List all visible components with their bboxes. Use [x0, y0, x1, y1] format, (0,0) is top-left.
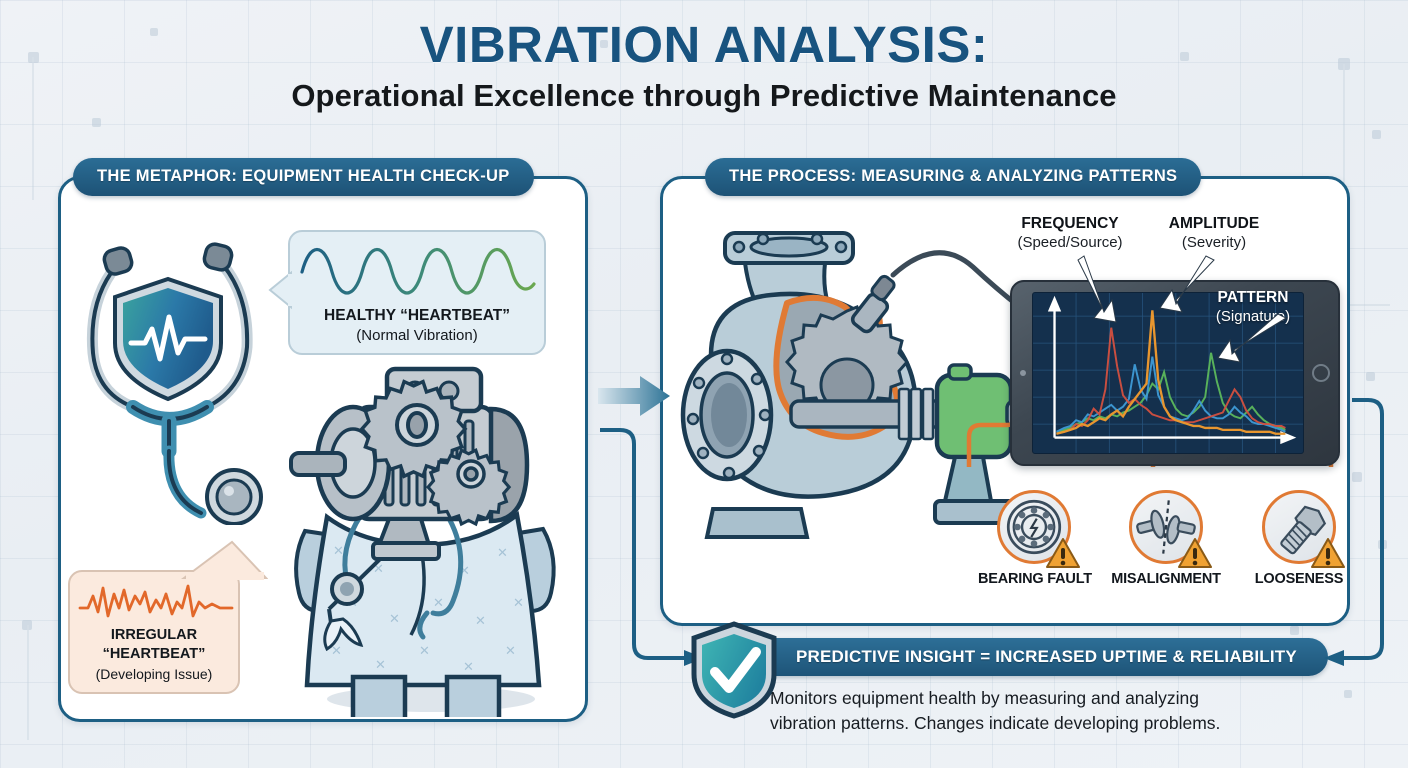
warning-triangle-icon: [1178, 537, 1212, 569]
callout-irregular-title-line1: IRREGULAR: [111, 627, 197, 643]
fault-misalignment[interactable]: MISALIGNMENT: [1110, 490, 1222, 587]
callout-irregular-title: IRREGULAR “HEARTBEAT”: [70, 626, 238, 664]
callout-irregular-tail: [180, 540, 268, 580]
fault-looseness-circle: [1262, 490, 1336, 564]
fault-bearing-label: BEARING FAULT: [978, 571, 1090, 587]
page-title: VIBRATION ANALYSIS:: [0, 18, 1408, 72]
fault-bearing-fault[interactable]: BEARING FAULT: [978, 490, 1090, 587]
annotation-arrows: [1020, 250, 1340, 380]
svg-text:✕: ✕: [375, 657, 386, 672]
svg-text:✕: ✕: [475, 613, 486, 628]
shield-check-icon: [688, 620, 780, 720]
fault-misalignment-circle: [1129, 490, 1203, 564]
callout-irregular-heartbeat: IRREGULAR “HEARTBEAT” (Developing Issue): [68, 570, 240, 694]
svg-text:✕: ✕: [505, 643, 516, 658]
vibration-sensor-icon: [850, 253, 1025, 334]
callout-healthy-subtitle: (Normal Vibration): [290, 327, 544, 344]
svg-text:✕: ✕: [433, 595, 444, 610]
svg-text:✕: ✕: [497, 545, 508, 560]
svg-text:✕: ✕: [333, 543, 344, 558]
fault-looseness-label: LOOSENESS: [1243, 571, 1355, 587]
healthy-waveform: [298, 240, 538, 302]
svg-text:✕: ✕: [389, 611, 400, 626]
fault-looseness[interactable]: LOOSENESS: [1243, 490, 1355, 587]
irregular-waveform: [78, 582, 234, 624]
callout-healthy-tail: [268, 270, 292, 310]
annotation-frequency: FREQUENCY (Speed/Source): [1000, 214, 1140, 252]
gear-icon-small: [428, 450, 509, 524]
electric-motor-patient-icon: ✕ ✕ ✕ ✕ ✕ ✕ ✕ ✕ ✕ ✕ ✕ ✕ ✕ ✕ ✕: [269, 359, 589, 717]
svg-text:✕: ✕: [419, 643, 430, 658]
page-subtitle: Operational Excellence through Predictiv…: [0, 78, 1408, 114]
header: VIBRATION ANALYSIS: Operational Excellen…: [0, 18, 1408, 114]
annotation-amplitude-title: AMPLITUDE: [1152, 214, 1276, 233]
sensor-cable: [893, 253, 1025, 311]
shield-heartbeat-icon: [115, 279, 221, 399]
annotation-amplitude: AMPLITUDE (Severity): [1152, 214, 1276, 252]
panel-metaphor-header: THE METAPHOR: EQUIPMENT HEALTH CHECK-UP: [73, 158, 534, 196]
warning-triangle-icon: [1311, 537, 1345, 569]
warning-triangle-icon: [1046, 537, 1080, 569]
right-arrow-icon: [596, 372, 674, 420]
svg-text:✕: ✕: [513, 595, 524, 610]
stethoscope-chestpiece: [207, 470, 261, 524]
fault-bearing-circle: [997, 490, 1071, 564]
panel-process-header: THE PROCESS: MEASURING & ANALYZING PATTE…: [705, 158, 1201, 196]
annotation-frequency-title: FREQUENCY: [1000, 214, 1140, 233]
svg-text:✕: ✕: [463, 659, 474, 674]
arrow-right-to-insight: [1324, 650, 1344, 666]
fault-misalignment-label: MISALIGNMENT: [1110, 571, 1222, 587]
callout-healthy-heartbeat: HEALTHY “HEARTBEAT” (Normal Vibration): [288, 230, 546, 355]
callout-healthy-title: HEALTHY “HEARTBEAT”: [290, 307, 544, 325]
callout-irregular-subtitle: (Developing Issue): [70, 666, 238, 682]
callout-irregular-title-line2: “HEARTBEAT”: [103, 646, 206, 662]
